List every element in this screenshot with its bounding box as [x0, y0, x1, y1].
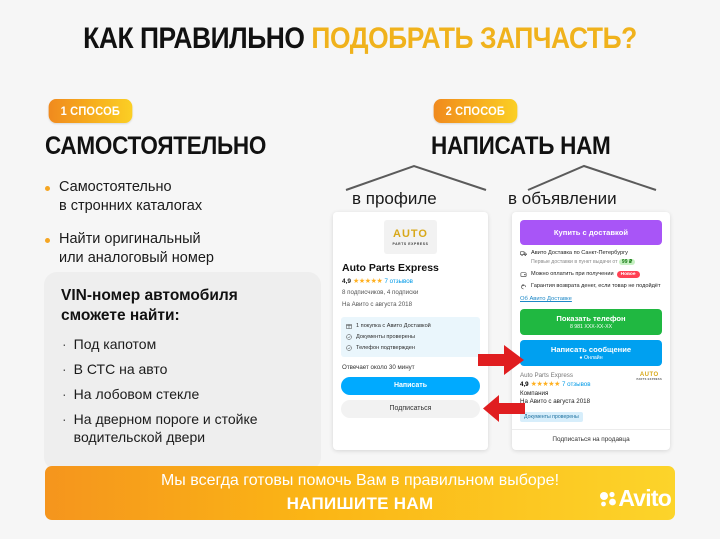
- bullet-dot-icon: [45, 186, 50, 191]
- bullet-dot-icon: ·: [62, 385, 67, 403]
- vin-item-line: водительской двери: [74, 429, 205, 445]
- delivery-label: Гарантия возврата денег, если товар не п…: [531, 283, 661, 291]
- red-arrow-left-icon: [483, 395, 525, 422]
- rating-value: 4,9: [342, 278, 351, 285]
- followers-count: 8 подписчиков, 4 подписки: [342, 288, 488, 297]
- advert-seller-block: AUTO PARTS EXPRESS Auto Parts Express 4,…: [520, 372, 662, 424]
- method2-badge: 2 СПОСОБ: [434, 99, 517, 123]
- footer-line-2: НАПИШИТЕ НАМ: [287, 494, 434, 514]
- bullet-line: Самостоятельно: [59, 178, 202, 197]
- vin-title-line: сможете найти:: [61, 306, 305, 326]
- vin-item-label: На лобовом стекле: [74, 385, 200, 403]
- delivery-info-text: Авито Доставка по Санкт-Петербургу Первы…: [531, 250, 635, 266]
- trust-badge-label: 1 покупка с Авито Доставкой: [356, 323, 431, 329]
- check-circle-icon: [346, 345, 352, 351]
- reviews-link[interactable]: 7 отзывов: [384, 278, 413, 285]
- poster-root: КАК ПРАВИЛЬНО ПОДОБРАТЬ ЗАПЧАСТЬ? 1 СПОС…: [0, 0, 720, 539]
- bracket-connector-icon: [336, 162, 686, 192]
- member-since: На Авито с августа 2018: [342, 300, 488, 309]
- new-badge: Новое: [617, 271, 640, 278]
- delivery-info-row: Гарантия возврата денег, если товар не п…: [520, 283, 662, 291]
- red-arrow-right-icon: [478, 345, 524, 375]
- response-time: Отвечает около 30 минут: [342, 364, 488, 371]
- bullet-text: Найти оригинальный или аналоговый номер: [59, 230, 214, 269]
- method1-bullet-list: Самостоятельно в стронних каталогах Найт…: [42, 178, 322, 281]
- show-phone-button[interactable]: Показать телефон 8 981 XXX-XX-XX: [520, 309, 662, 335]
- rating-value: 4,9: [520, 381, 529, 388]
- advert-card: Купить с доставкой Авито Доставка по Сан…: [512, 212, 670, 450]
- documents-verified-badge: Документы проверены: [520, 412, 583, 422]
- page-title-black: КАК ПРАВИЛЬНО: [83, 22, 304, 55]
- trust-badge-label: Документы проверены: [356, 334, 415, 340]
- star-icon: ★★★★★: [531, 380, 560, 388]
- delivery-info-text: Можно оплатить при полученииНовое: [531, 271, 640, 279]
- bullet-line: в стронних каталогах: [59, 197, 202, 216]
- delivery-info-row: Авито Доставка по Санкт-Петербургу Первы…: [520, 250, 662, 266]
- vin-title-line: VIN-номер автомобиля: [61, 286, 305, 306]
- truck-icon: [520, 250, 527, 257]
- trust-badge-row: Телефон подтвержден: [346, 342, 475, 353]
- method1-heading: САМОСТОЯТЕЛЬНО: [45, 132, 266, 161]
- profile-write-button[interactable]: Написать: [341, 377, 480, 395]
- sublabel-advert: в объявлении: [508, 189, 617, 209]
- buy-with-delivery-button[interactable]: Купить с доставкой: [520, 220, 662, 245]
- profile-card: AUTO PARTS EXPRESS Auto Parts Express 4,…: [333, 212, 488, 450]
- subscribe-seller-button[interactable]: Подписаться на продавца: [512, 429, 670, 443]
- vin-item-label: На дверном пороге и стойке водительской …: [74, 410, 258, 446]
- wallet-icon: [520, 271, 527, 278]
- list-item: · В СТС на авто: [61, 360, 305, 378]
- avito-logo: Avito: [598, 487, 671, 510]
- vin-item-label: Под капотом: [74, 335, 157, 353]
- trust-badge-label: Телефон подтвержден: [356, 345, 415, 351]
- method1-badge: 1 СПОСОБ: [49, 99, 132, 123]
- avito-dots-icon: [598, 489, 618, 509]
- seller-logo-main: AUTO: [393, 229, 428, 240]
- page-title-yellow: ПОДОБРАТЬ ЗАПЧАСТЬ?: [311, 22, 636, 55]
- avito-wordmark: Avito: [618, 487, 671, 510]
- price-tag: 99 ₽: [619, 259, 635, 265]
- bullet-line: Найти оригинальный: [59, 230, 214, 249]
- show-phone-label: Показать телефон: [520, 314, 662, 323]
- list-item: · На дверном пороге и стойке водительско…: [61, 410, 305, 446]
- trust-badge-box: 1 покупка с Авито Доставкой Документы пр…: [341, 317, 480, 357]
- bullet-dot-icon: ·: [62, 410, 67, 428]
- online-status: ● Онлайн: [520, 355, 662, 361]
- member-since: На Авито с августа 2018: [520, 398, 662, 405]
- list-item: Найти оригинальный или аналоговый номер: [42, 230, 322, 269]
- footer-banner: Мы всегда готовы помочь Вам в правильном…: [45, 466, 675, 520]
- bullet-dot-icon: [45, 238, 50, 243]
- write-message-button[interactable]: Написать сообщение ● Онлайн: [520, 340, 662, 366]
- profile-subscribe-button[interactable]: Подписаться: [341, 400, 480, 418]
- delivery-label: Можно оплатить при получении: [531, 271, 614, 277]
- list-item: Самостоятельно в стронних каталогах: [42, 178, 322, 217]
- rating-row: 4,9 ★★★★★ 7 отзывов: [520, 380, 662, 388]
- return-icon: [520, 283, 527, 290]
- list-item: · Под капотом: [61, 335, 305, 353]
- delivery-box-icon: [346, 323, 352, 329]
- delivery-label: Авито Доставка по Санкт-Петербургу: [531, 250, 635, 258]
- write-message-label: Написать сообщение: [520, 345, 662, 354]
- list-item: · На лобовом стекле: [61, 385, 305, 403]
- delivery-info-row: Можно оплатить при полученииНовое: [520, 271, 662, 279]
- trust-badge-row: Документы проверены: [346, 331, 475, 342]
- about-delivery-link[interactable]: Об Авито Доставке: [520, 296, 662, 302]
- star-icon: ★★★★★: [353, 277, 382, 285]
- method2-heading: НАПИСАТЬ НАМ: [431, 132, 611, 161]
- check-circle-icon: [346, 334, 352, 340]
- seller-logo-main: AUTO: [640, 372, 659, 378]
- bullet-line: или аналоговый номер: [59, 249, 214, 268]
- seller-logo: AUTO PARTS EXPRESS: [384, 220, 437, 254]
- seller-logo-sub: PARTS EXPRESS: [637, 378, 662, 381]
- vin-item-label: В СТС на авто: [74, 360, 168, 378]
- reviews-link[interactable]: 7 отзывов: [562, 381, 591, 388]
- seller-logo-sub: PARTS EXPRESS: [393, 242, 429, 246]
- delivery-sub-text: Первые доставки в пункт выдачи от: [531, 259, 617, 265]
- bullet-dot-icon: ·: [62, 360, 67, 378]
- page-title: КАК ПРАВИЛЬНО ПОДОБРАТЬ ЗАПЧАСТЬ?: [43, 22, 677, 56]
- bullet-text: Самостоятельно в стронних каталогах: [59, 178, 202, 217]
- bullet-dot-icon: ·: [62, 335, 67, 353]
- rating-row: 4,9 ★★★★★ 7 отзывов: [342, 277, 488, 285]
- delivery-sub: Первые доставки в пункт выдачи от 99 ₽: [531, 259, 635, 266]
- sublabel-profile: в профиле: [352, 189, 437, 209]
- vin-item-line: На дверном пороге и стойке: [74, 411, 258, 427]
- seller-logo: AUTO PARTS EXPRESS: [637, 372, 662, 381]
- footer-line-1: Мы всегда готовы помочь Вам в правильном…: [161, 472, 559, 490]
- seller-type: Компания: [520, 390, 662, 397]
- vin-box-title: VIN-номер автомобиля сможете найти:: [61, 286, 305, 326]
- vin-info-box: VIN-номер автомобиля сможете найти: · По…: [44, 272, 321, 470]
- trust-badge-row: 1 покупка с Авито Доставкой: [346, 321, 475, 332]
- seller-name: Auto Parts Express: [342, 262, 488, 274]
- phone-number: 8 981 XXX-XX-XX: [520, 324, 662, 330]
